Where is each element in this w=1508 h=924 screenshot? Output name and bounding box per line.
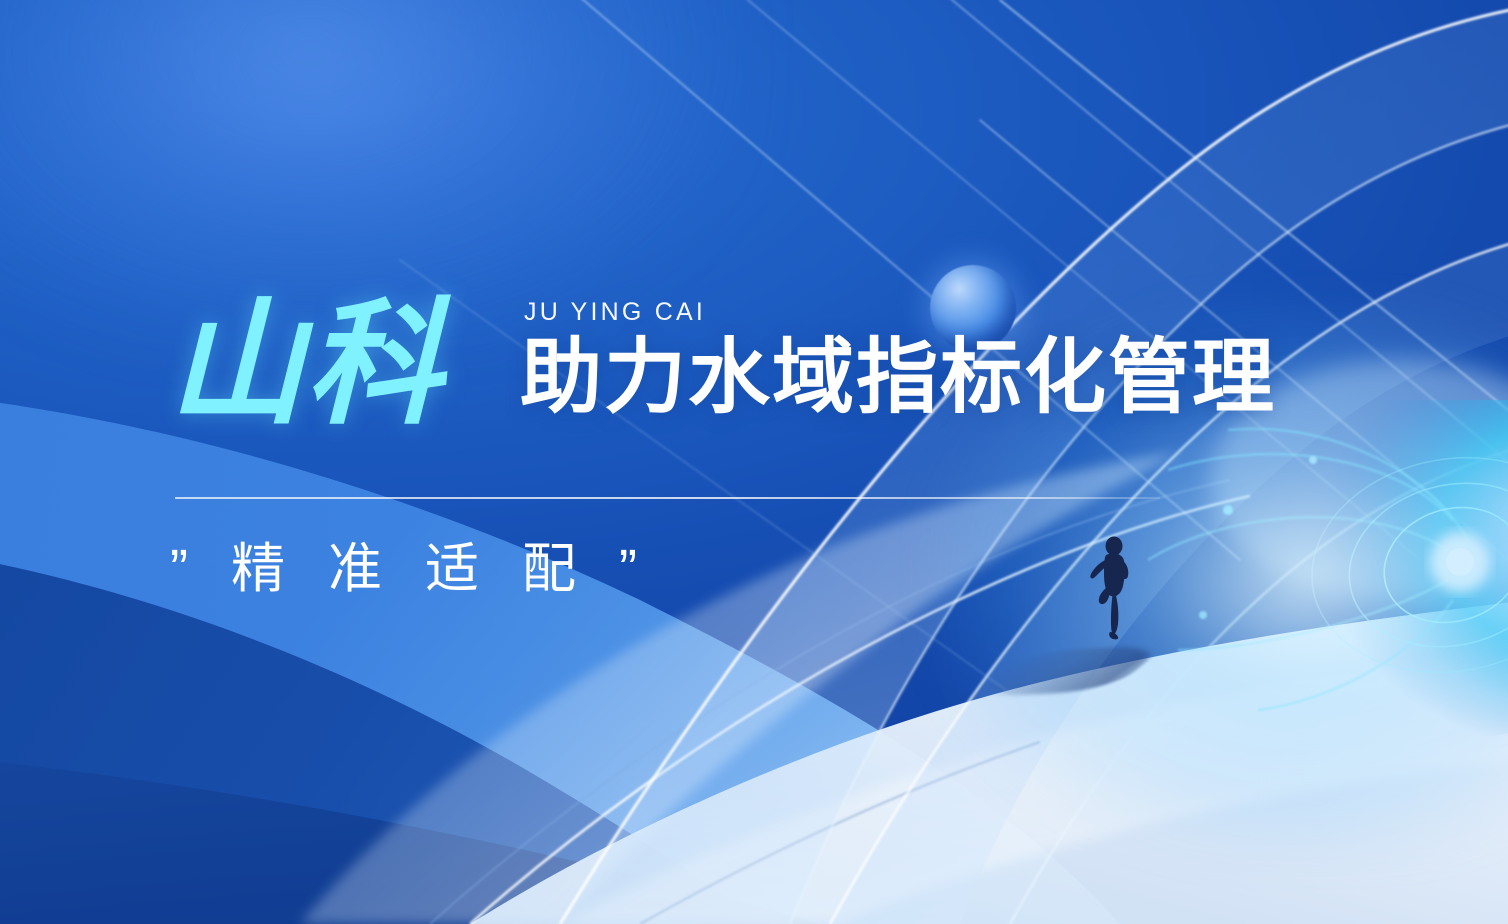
- brand-logo-text: 山科: [168, 296, 444, 432]
- text-content: 山科 JU YING CAI 助力水域指标化管理 ” 精 准 适 配 ”: [0, 0, 1508, 924]
- pinyin-text: JU YING CAI: [524, 300, 1276, 325]
- marketing-banner: 山科 JU YING CAI 助力水域指标化管理 ” 精 准 适 配 ”: [0, 0, 1508, 924]
- main-headline: 助力水域指标化管理: [520, 337, 1276, 419]
- tagline-text: ” 精 准 适 配 ”: [170, 540, 651, 599]
- brand-logo-row: 山科: [168, 296, 444, 432]
- headline-stack: JU YING CAI 助力水域指标化管理: [520, 300, 1276, 419]
- divider-line: [175, 497, 1160, 499]
